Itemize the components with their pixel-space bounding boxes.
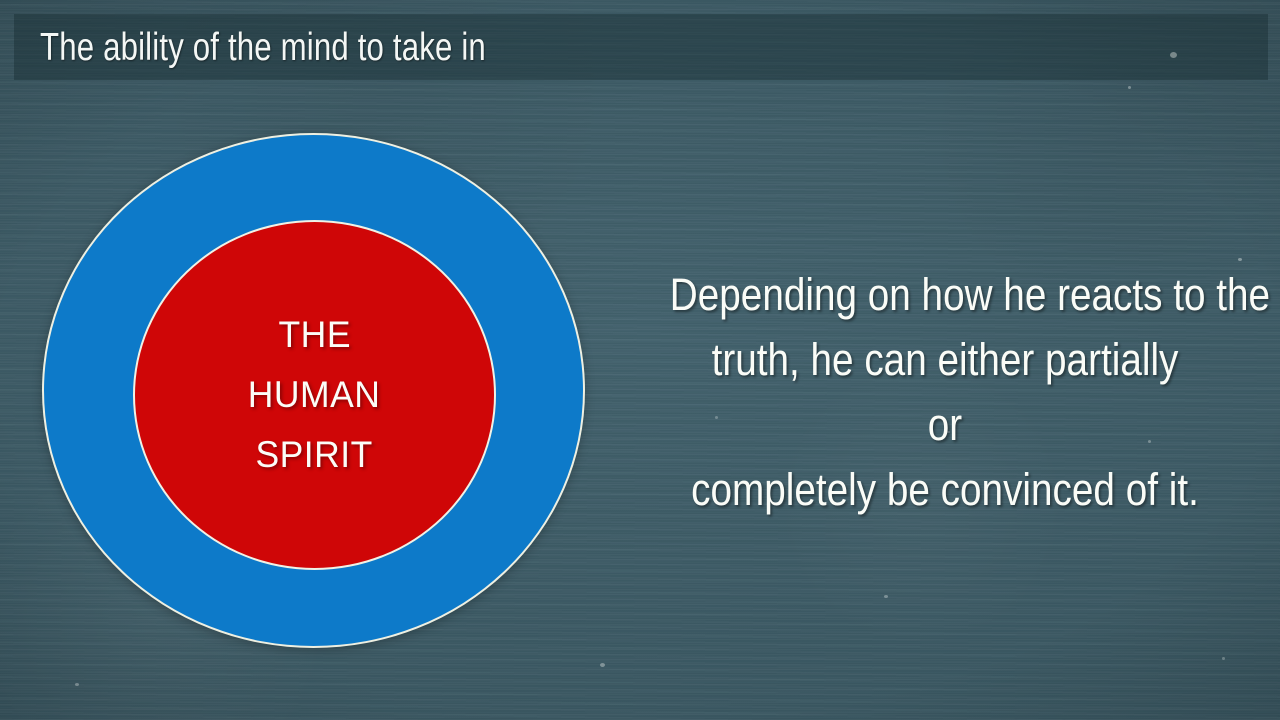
body-text-line-4: completely be convinced of it. — [670, 457, 1220, 522]
body-text-line-2: truth, he can either partially — [670, 327, 1220, 392]
page-title: The ability of the mind to take in — [40, 28, 486, 67]
center-label-line-2: HUMAN — [248, 365, 381, 425]
body-text-line-1: Depending on how he reacts to the — [670, 262, 1220, 327]
center-label-line-1: THE — [278, 305, 350, 365]
title-bar: The ability of the mind to take in — [14, 14, 1268, 80]
center-label-line-3: SPIRIT — [256, 425, 373, 485]
body-text-block: Depending on how he reacts to the truth,… — [625, 262, 1265, 522]
body-text-line-3: or — [670, 392, 1220, 457]
concentric-circle-diagram: THE HUMAN SPIRIT — [42, 133, 585, 648]
slide-canvas: The ability of the mind to take in THE H… — [0, 0, 1280, 720]
inner-circle-shape: THE HUMAN SPIRIT — [133, 220, 496, 570]
outer-ring-shape: THE HUMAN SPIRIT — [42, 133, 585, 648]
